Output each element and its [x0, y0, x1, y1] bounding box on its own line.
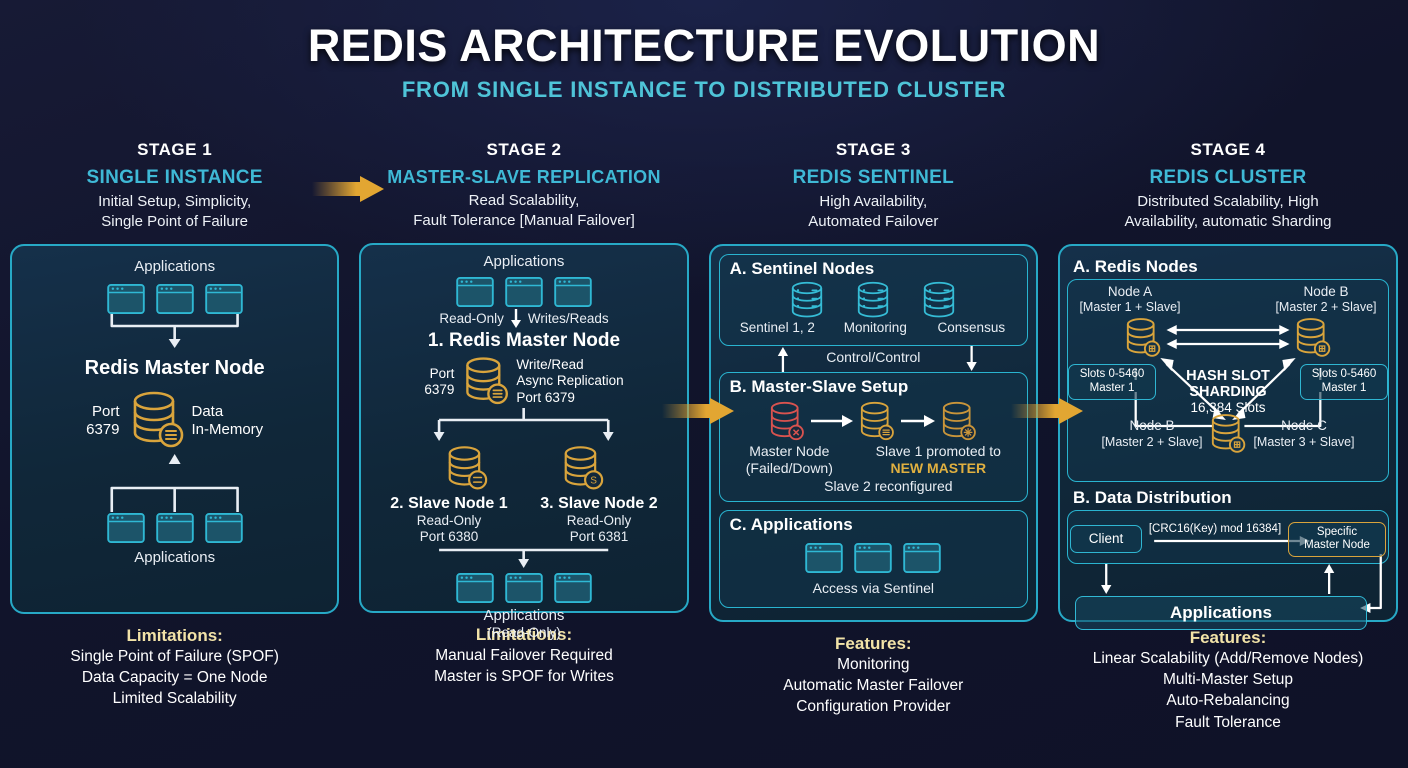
stage-2-apps-top-label: Applications [361, 253, 686, 271]
application-window-icon [205, 284, 243, 314]
stage-1-desc-line1: Initial Setup, Simplicity, [10, 192, 339, 212]
application-window-icon [456, 277, 494, 307]
stage-2-name: MASTER-SLAVE REPLICATION [359, 167, 688, 188]
application-window-icon [156, 284, 194, 314]
stage-2-right-line1: Write/Read [516, 357, 623, 374]
center-node-database-icon [1206, 412, 1250, 456]
infographic-canvas: REDIS ARCHITECTURE EVOLUTION FROM SINGLE… [0, 0, 1408, 768]
stage-1-footer-item: Limited Scalability [10, 688, 339, 709]
node-b-database-icon [1291, 316, 1335, 360]
stage-3: STAGE 3 REDIS SENTINEL High Availability… [699, 140, 1048, 768]
stage-3-apps-row [720, 543, 1027, 573]
stage-3-footer-item: Configuration Provider [709, 696, 1038, 717]
stage-3-failed-master-line1: Master Node [728, 443, 850, 460]
svg-text:S: S [590, 476, 597, 487]
stage-2-diagram: Applications [359, 243, 688, 613]
application-window-icon [554, 277, 592, 307]
stage-2-slave1-line1: Read-Only [383, 513, 515, 529]
stage-4-box-a-title: A. Redis Nodes [1067, 253, 1389, 279]
stage-4-slots-right-line1: Slots 0-5460 [1306, 368, 1382, 382]
stage-4-name: REDIS CLUSTER [1058, 167, 1398, 189]
stage-2: STAGE 2 MASTER-SLAVE REPLICATION Read Sc… [349, 140, 698, 768]
stage-3-desc-line1: High Availability, [709, 192, 1038, 212]
stage-4-footer-item: Fault Tolerance [1058, 712, 1398, 733]
application-window-icon [554, 573, 592, 603]
stage-4-footer-item: Multi-Master Setup [1058, 669, 1398, 690]
stage-2-footer-item: Manual Failover Required [359, 645, 688, 666]
stage-4-desc-line1: Distributed Scalability, High [1058, 192, 1398, 212]
stage-2-desc-line2: Fault Tolerance [Manual Failover] [359, 211, 688, 231]
stage-4-slots-left-line2: Master 1 [1074, 382, 1150, 396]
redis-master-database-icon [459, 356, 511, 408]
stage-4-slots-right-line2: Master 1 [1306, 382, 1382, 396]
stage-4-data-distribution-box: Client [CRC16(Key) mod 16384] Specific M… [1067, 510, 1389, 564]
stage-3-box-b-title: B. Master-Slave Setup [720, 373, 1027, 399]
stage-2-number: STAGE 2 [359, 140, 688, 160]
stage-3-desc-line2: Automated Failover [709, 212, 1038, 232]
stage-4-specific-master-pill: Specific Master Node [1288, 522, 1386, 558]
application-window-icon [805, 543, 843, 573]
stage-1-footer-item: Data Capacity = One Node [10, 667, 339, 688]
stage-1-footer-item: Single Point of Failure (SPOF) [10, 646, 339, 667]
application-window-icon [107, 284, 145, 314]
stage-2-master-title: 1. Redis Master Node [361, 330, 686, 352]
stage-3-sentinel-label: Sentinel 1, 2 [734, 320, 820, 336]
slave-1-database-icon [442, 445, 490, 493]
application-window-icon [505, 277, 543, 307]
stage-3-failed-master-line2: (Failed/Down) [728, 460, 850, 477]
stage-4-specific-line2: Master Node [1294, 539, 1380, 553]
stage-3-slave2-reconfigured: Slave 2 reconfigured [720, 478, 1027, 495]
stage-3-promoted-line1: Slave 1 promoted to [858, 443, 1018, 460]
stage-3-footer-heading: Features: [709, 634, 1038, 654]
stage-1-port-line1: Port [86, 403, 119, 421]
stage-4-client-pill: Client [1070, 525, 1142, 553]
slave-2-database-icon: S [558, 445, 606, 493]
stage-3-diagram: A. Sentinel Nodes [709, 244, 1038, 622]
stage-3-sentinel-label: Consensus [930, 320, 1012, 336]
stage-1-name: SINGLE INSTANCE [10, 167, 339, 189]
page-title: REDIS ARCHITECTURE EVOLUTION [0, 22, 1408, 69]
stage-2-footer-item: Master is SPOF for Writes [359, 666, 688, 687]
stage-2-right-line2: Async Replication [516, 373, 623, 390]
stage-2-apps-bottom-row [361, 573, 686, 603]
stage-1-master-title: Redis Master Node [12, 357, 337, 380]
stage-4-applications-bar: Applications [1075, 596, 1367, 630]
stage-3-new-master-badge: NEW MASTER [858, 460, 1018, 477]
stage-1-apps-bottom-label: Applications [12, 549, 337, 567]
stage-3-box-c-title: C. Applications [720, 511, 1027, 537]
stage-3-box-b: B. Master-Slave Setup [719, 372, 1028, 502]
stage-3-number: STAGE 3 [709, 140, 1038, 160]
stage-2-apps-bottom-sub: (Read-Only) [361, 625, 686, 641]
stage-4-footer-item: Auto-Rebalancing [1058, 690, 1398, 711]
stage-1-number: STAGE 1 [10, 140, 339, 160]
node-a-database-icon [1121, 316, 1165, 360]
stage-4-node-b-bot-line1: Node B [1098, 418, 1206, 434]
failed-master-database-icon [765, 400, 809, 442]
stage-1-apps-top-row [12, 284, 337, 314]
application-window-icon [854, 543, 892, 573]
stage-4-footer-item: Linear Scalability (Add/Remove Nodes) [1058, 648, 1398, 669]
redis-database-icon [126, 390, 186, 452]
stage-3-box-a-title: A. Sentinel Nodes [720, 255, 1027, 281]
promoted-master-database-icon [855, 400, 899, 442]
connector-bottomapps-to-master [12, 454, 337, 512]
stage-1-port-line2: 6379 [86, 421, 119, 439]
stage-3-footer-item: Monitoring [709, 654, 1038, 675]
stage-4-slots-left-pill: Slots 0-5460 Master 1 [1068, 364, 1156, 400]
stage-2-desc-line1: Read Scalability, [359, 191, 688, 211]
stage-4-box-b-title: B. Data Distribution [1067, 482, 1389, 510]
stage-4-number: STAGE 4 [1058, 140, 1398, 160]
stage-2-slave1-title: 2. Slave Node 1 [383, 495, 515, 513]
header: REDIS ARCHITECTURE EVOLUTION FROM SINGLE… [0, 0, 1408, 103]
stage-2-right-line3: Port 6379 [516, 390, 623, 407]
stage-2-slave1-line2: Port 6380 [383, 529, 515, 545]
stage-2-slave2-title: 3. Slave Node 2 [533, 495, 665, 513]
arrow-down-icon [508, 309, 524, 329]
stage-3-footer-item: Automatic Master Failover [709, 675, 1038, 696]
stage-4-desc-line2: Availability, automatic Sharding [1058, 212, 1398, 232]
stage-2-port-line1: Port [424, 366, 454, 382]
page-subtitle: FROM SINGLE INSTANCE TO DISTRIBUTED CLUS… [0, 77, 1408, 103]
stage-4-diagram: A. Redis Nodes [1058, 244, 1398, 622]
arrow-right-icon [899, 413, 937, 429]
stage-4-footer: Features: Linear Scalability (Add/Remove… [1058, 628, 1398, 734]
stage-1-apps-bottom-row [12, 513, 337, 543]
application-window-icon [205, 513, 243, 543]
stage-4-node-c-line2: [Master 3 + Slave] [1250, 435, 1358, 450]
connector-slaves-to-apps [361, 546, 686, 570]
stage-4: STAGE 4 REDIS CLUSTER Distributed Scalab… [1048, 140, 1408, 768]
stage-4-crc-label: [CRC16(Key) mod 16384] [1142, 523, 1288, 535]
stage-3-control-row: Control/Control [719, 346, 1028, 372]
stage-3-sentinel-label: Monitoring [834, 320, 916, 336]
stage-4-slots-left-line1: Slots 0-5460 [1074, 368, 1150, 382]
connector-apps-to-master [12, 314, 337, 350]
stage-1-apps-top-label: Applications [12, 258, 337, 276]
application-window-icon [456, 573, 494, 603]
stage-2-port-line2: 6379 [424, 382, 454, 398]
stage-1-footer-heading: Limitations: [10, 626, 339, 646]
stage-3-footer: Features: Monitoring Automatic Master Fa… [709, 634, 1038, 718]
stage-4-applications-area: Applications [1067, 564, 1389, 630]
connector-master-to-slaves [361, 408, 686, 442]
stage-3-name: REDIS SENTINEL [709, 167, 1038, 189]
sentinel-database-icon [786, 280, 828, 320]
stage-4-node-b-bot-line2: [Master 2 + Slave] [1098, 435, 1206, 450]
stage-1-diagram: Applications [10, 244, 339, 614]
stage-4-node-c-line1: Node C [1250, 418, 1358, 434]
stage-3-access-label: Access via Sentinel [720, 580, 1027, 597]
consensus-database-icon [918, 280, 960, 320]
arrow-right-icon [809, 413, 855, 429]
stage-2-read-only-label: Read-Only [439, 311, 504, 327]
stage-3-control-label: Control/Control [719, 349, 1028, 366]
application-window-icon [107, 513, 145, 543]
stage-3-box-c: C. Applications [719, 510, 1028, 608]
stages-container: STAGE 1 SINGLE INSTANCE Initial Setup, S… [0, 140, 1408, 768]
stage-1-data-line1: Data [192, 403, 264, 421]
stage-4-nodes-box: Node A [Master 1 + Slave] Node B [Master… [1067, 279, 1389, 482]
stage-1-data-line2: In-Memory [192, 421, 264, 439]
application-window-icon [903, 543, 941, 573]
application-window-icon [156, 513, 194, 543]
stage-2-slave2-line1: Read-Only [533, 513, 665, 529]
stage-4-slots-right-pill: Slots 0-5460 Master 1 [1300, 364, 1388, 400]
stage-2-apps-top-row [361, 277, 686, 307]
application-window-icon [505, 573, 543, 603]
stage-4-footer-heading: Features: [1058, 628, 1398, 648]
stage-4-specific-line1: Specific [1294, 526, 1380, 540]
stage-1: STAGE 1 SINGLE INSTANCE Initial Setup, S… [0, 140, 349, 768]
stage-1-desc-line2: Single Point of Failure [10, 212, 339, 232]
stage-1-footer: Limitations: Single Point of Failure (SP… [10, 626, 339, 710]
stage-2-apps-bottom-label: Applications [361, 607, 686, 625]
stage-2-writes-reads-label: Writes/Reads [528, 311, 609, 327]
stage-2-slave2-line2: Port 6381 [533, 529, 665, 545]
reconfigured-slave-database-icon [937, 400, 981, 442]
stage-3-box-a: A. Sentinel Nodes [719, 254, 1028, 346]
monitoring-database-icon [852, 280, 894, 320]
